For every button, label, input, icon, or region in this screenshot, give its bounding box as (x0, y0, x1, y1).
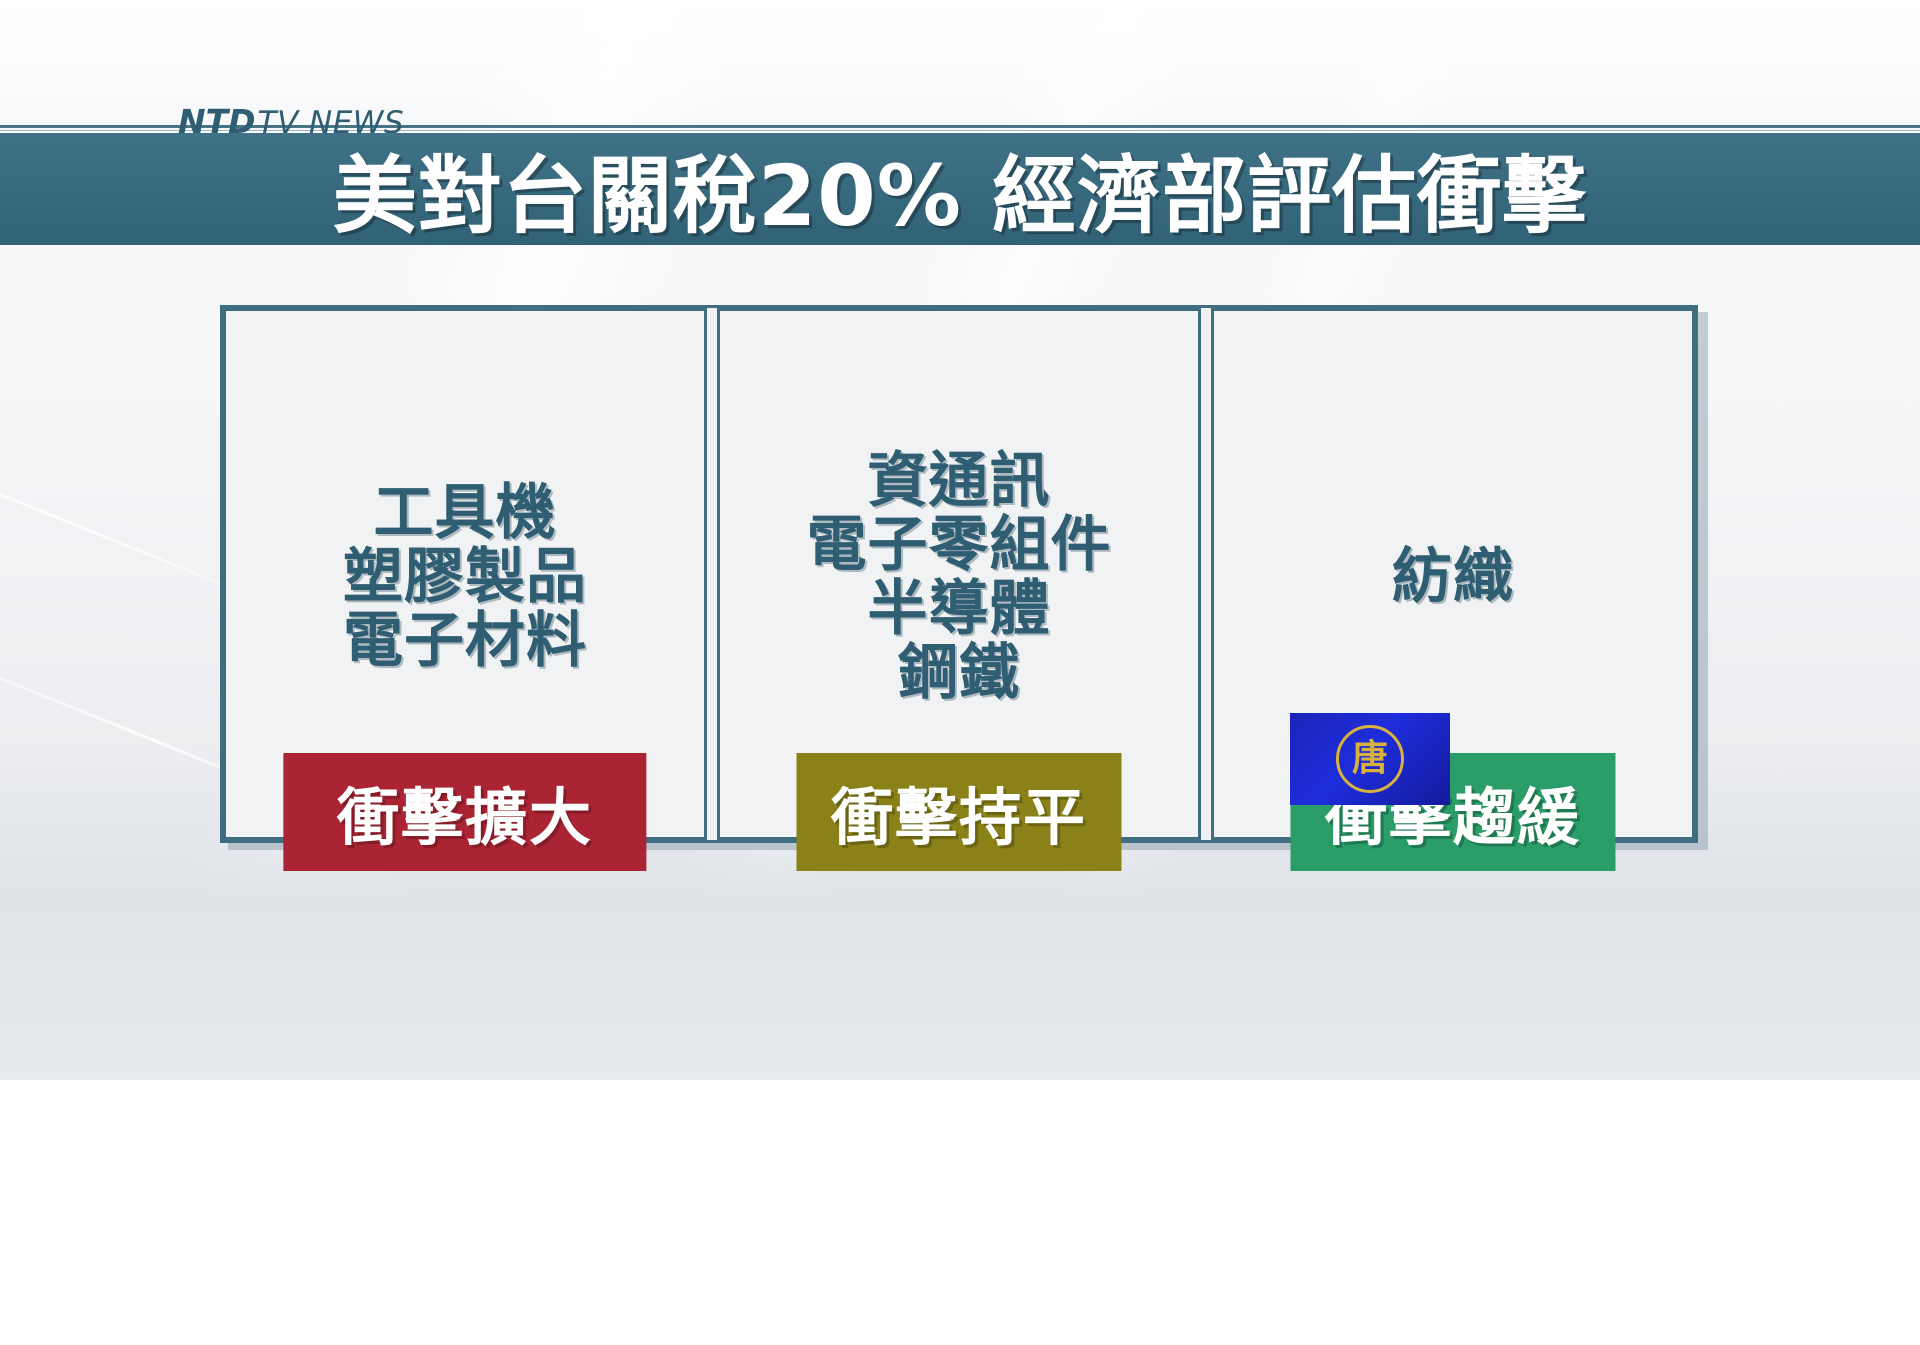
panel-item: 半導體 (868, 577, 1051, 641)
panel-impact-flat: 資通訊 電子零組件 半導體 鋼鐵 衝擊持平 (717, 308, 1201, 840)
panel-item: 電子零組件 (807, 513, 1112, 577)
panel-item: 資通訊 (868, 449, 1051, 513)
channel-watermark-badge: 唐 (1290, 713, 1450, 805)
panel-item: 塑膠製品 (343, 545, 587, 609)
panel-impact-easing: 紡織 衝擊趨緩 (1211, 308, 1695, 840)
panel-item: 工具機 (374, 481, 557, 545)
tang-seal-icon: 唐 (1336, 725, 1404, 793)
content-card: 工具機 塑膠製品 電子材料 衝擊擴大 資通訊 電子零組件 半導體 鋼鐵 衝擊持平… (220, 305, 1698, 843)
panel-item: 紡織 (1392, 545, 1514, 609)
panel-item: 鋼鐵 (898, 641, 1020, 705)
panel-row: 工具機 塑膠製品 電子材料 衝擊擴大 資通訊 電子零組件 半導體 鋼鐵 衝擊持平… (223, 308, 1695, 840)
panel-impact-expanding: 工具機 塑膠製品 電子材料 衝擊擴大 (223, 308, 707, 840)
panel-item: 電子材料 (343, 609, 587, 673)
status-badge-impact-expanding: 衝擊擴大 (283, 753, 646, 871)
status-badge-impact-flat: 衝擊持平 (796, 753, 1121, 871)
headline-title: 美對台關稅20% 經濟部評估衝擊 (0, 133, 1920, 245)
